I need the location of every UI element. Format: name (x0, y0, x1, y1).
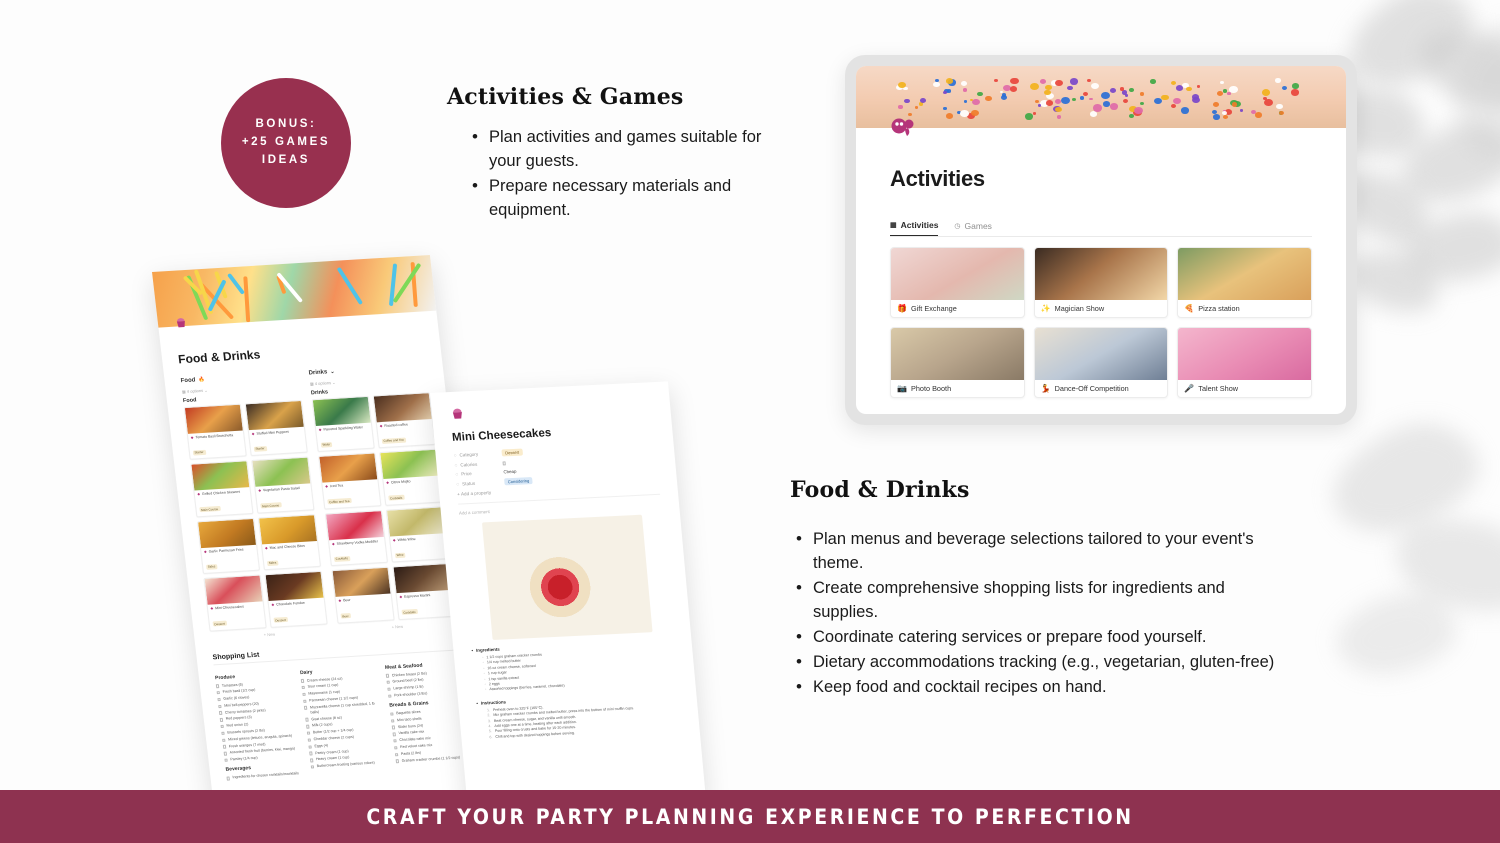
confetti-dot (1030, 83, 1039, 90)
activity-card[interactable]: 📷Photo Booth (890, 327, 1025, 398)
confetti-dot (1061, 97, 1070, 104)
add-comment-row[interactable]: Add a comment (458, 494, 661, 516)
bullet-item: Plan menus and beverage selections tailo… (790, 528, 1290, 576)
confetti-dot (1101, 92, 1110, 99)
recipe-title: Mini Cheesecakes (452, 422, 655, 444)
beer-icon: ◆ (338, 599, 341, 604)
confetti-dot (1140, 92, 1144, 95)
bullet-marker: • (476, 701, 478, 706)
checkbox-icon[interactable] (302, 693, 306, 697)
activity-card-label: Talent Show (1198, 384, 1238, 393)
confetti-dot (1083, 92, 1088, 96)
checkbox-icon[interactable] (224, 759, 228, 763)
confetti-dot (1129, 88, 1134, 92)
chevron-down-icon: ⌄ (330, 369, 335, 375)
food-card[interactable]: ◆Garlic Parmesan FriesSides (197, 518, 260, 575)
food-card[interactable]: ◆Mac and Cheese BitesSides (258, 514, 321, 571)
bullet-item: Dietary accommodations tracking (e.g., v… (790, 651, 1290, 675)
food-card-label: Tomato Basil Bruschetta (195, 433, 233, 440)
food-card-tag: Cocktails (401, 609, 418, 615)
confetti-dot (1002, 93, 1007, 97)
tab-label: Games (965, 221, 992, 231)
shopping-item-label: Red onion (2) (226, 723, 248, 730)
confetti-dot (1055, 80, 1063, 87)
checkbox-icon[interactable] (301, 679, 305, 683)
shopping-item-label: Vanilla cake mix (398, 730, 424, 737)
property-name: Price (461, 471, 472, 476)
shopping-item-label: Pork shoulder (3 lbs) (394, 691, 428, 698)
choco-icon: ◆ (271, 603, 274, 608)
leaf-shadow-icon (1343, 240, 1447, 323)
shopping-item-label: Baguette slices (396, 710, 421, 717)
tab-games[interactable]: ◷Games (954, 220, 992, 236)
leaf-icon: ◆ (258, 489, 261, 494)
food-card-tag: Starter (192, 450, 206, 456)
confetti-dot (972, 99, 979, 105)
confetti-dot (1093, 104, 1102, 111)
confetti-dot (904, 99, 910, 104)
confetti-dot (1038, 104, 1042, 107)
food-drinks-page-mockup: Food & Drinks Food🔥▦ 4 options ⌄Food◆Tom… (152, 255, 492, 808)
confetti-dot (1070, 78, 1078, 84)
ingredients-title: Ingredients (476, 647, 500, 653)
food-card-label: White Wine (397, 537, 415, 542)
recipe-page-body: Mini Cheesecakes ◌CategoryDessert◌Calori… (430, 381, 700, 741)
food-card-grid: ◆Tomato Basil BruschettaStarter◆Stuffed … (184, 400, 328, 631)
activity-card[interactable]: ✨Magician Show (1034, 247, 1169, 318)
confetti-dot (1080, 96, 1085, 100)
food-card-tag: Sides (266, 560, 278, 566)
property-value-pill: Considering (504, 477, 533, 485)
checkbox-icon[interactable] (395, 753, 399, 757)
confetti-dot (1279, 111, 1284, 115)
food-card[interactable]: ◆Tomato Basil BruschettaStarter (184, 404, 247, 461)
confetti-dot (963, 88, 967, 91)
leaf-shadow-icon (1409, 14, 1500, 124)
activity-card-label-row: 🍕Pizza station (1178, 300, 1311, 317)
food-card-tag: Beer (340, 613, 351, 619)
microphone-icon: 🎤 (1184, 385, 1194, 393)
checkbox-icon[interactable] (216, 684, 220, 688)
food-card-tag: Cocktails (388, 495, 405, 501)
checkbox-icon[interactable] (393, 739, 397, 743)
food-card-tag: Coffee and Tea (381, 437, 406, 444)
mint-icon: ◆ (386, 481, 389, 486)
tablet-screen[interactable]: Activities ▦Activities◷Games 🎁Gift Excha… (856, 66, 1346, 414)
checkbox-icon[interactable] (307, 732, 311, 736)
recipe-properties: ◌CategoryDessert◌Calories◌PriceCheap◌Sta… (453, 442, 659, 497)
grid-icon: ▦ (890, 221, 897, 229)
food-drinks-section-title: Food & Drinks (790, 477, 970, 503)
checkbox-icon[interactable] (308, 745, 312, 749)
food-card[interactable]: ◆Roasted coffeeCoffee and Tea (373, 392, 436, 449)
confetti-dot (960, 110, 969, 117)
pasta-salad-photo (252, 458, 310, 487)
food-card[interactable]: ◆Mini CheesecakesDessert (204, 575, 267, 632)
property-value-pill: Dessert (501, 449, 522, 457)
confetti-dot (1197, 85, 1200, 87)
activity-card-label: Gift Exchange (911, 304, 957, 313)
checkbox-icon[interactable] (219, 711, 223, 715)
confetti-dot (1220, 81, 1224, 84)
confetti-dot (1040, 79, 1047, 84)
confetti-dot (1262, 89, 1270, 95)
confetti-dot (1217, 91, 1223, 96)
food-drinks-page-title: Food & Drinks (177, 337, 425, 366)
shopping-list-item[interactable]: Ingredients for chosen cocktails/mocktai… (226, 771, 303, 781)
fire-icon: 🔥 (198, 377, 205, 383)
confetti-dot (1123, 99, 1128, 103)
cupcake-icon (173, 315, 189, 333)
tab-activities[interactable]: ▦Activities (890, 220, 938, 236)
checkbox-icon[interactable] (306, 725, 310, 729)
ordinal-marker: 6. (489, 735, 492, 741)
skewers-photo (191, 462, 249, 491)
checkbox-icon[interactable] (217, 691, 221, 695)
food-card-label: Flavored Sparkling Water (323, 425, 363, 432)
food-card-label: Citrus Mojito (391, 480, 411, 486)
shopping-list-block: Shopping List ProduceTomatoes (6)Fresh b… (196, 638, 489, 784)
activities-card-grid: 🎁Gift Exchange✨Magician Show🍕Pizza stati… (890, 247, 1312, 398)
food-card[interactable]: ◆Stuffed Mini PeppersStarter (245, 400, 308, 457)
tablet-page-title: Activities (890, 166, 1312, 192)
shopping-item-label: Pasta (2 lbs) (401, 751, 422, 757)
confetti-dot (1110, 103, 1118, 109)
confetti-dot (1046, 100, 1054, 106)
food-card-tag: Wine (394, 552, 405, 558)
confetti-dot (1229, 86, 1237, 93)
fork-icon: ◆ (204, 550, 207, 555)
checkbox-icon[interactable] (223, 745, 227, 749)
confetti-dot (1171, 104, 1177, 108)
activities-bullet-list: Plan activities and games suitable for y… (466, 126, 766, 224)
checkbox-icon[interactable] (396, 760, 400, 764)
mojito-photo (380, 450, 438, 479)
confetti-dot (1025, 113, 1033, 120)
slide-canvas: BONUS: +25 GAMES IDEAS Activities & Game… (0, 0, 1500, 843)
iced-tea-photo (319, 454, 377, 483)
confetti-dot (1223, 115, 1228, 119)
shopping-list-column: DairyCream cheese (24 oz)Sour cream (1 c… (299, 661, 388, 778)
confetti-dot (1171, 81, 1176, 85)
property-name-cell: ◌Category (454, 451, 498, 458)
activity-card-label: Pizza station (1198, 304, 1239, 313)
strawberry-drink-photo (326, 511, 384, 540)
confetti-dot (961, 81, 967, 86)
beer-photo (333, 568, 391, 597)
checkbox-icon[interactable] (390, 712, 394, 716)
coffee-photo (374, 393, 432, 422)
property-name: Category (459, 452, 478, 458)
dancer-icon: 💃 (1041, 385, 1051, 393)
calories-checkbox[interactable] (503, 462, 507, 466)
food-card-label: Iced Tea (330, 484, 344, 489)
gift-icon: 🎁 (897, 305, 907, 313)
property-value: Cheap (503, 469, 516, 475)
checkbox-icon[interactable] (394, 746, 398, 750)
activity-card-label-row: 📷Photo Booth (891, 380, 1024, 397)
food-card-label: Mini Cheesecakes (215, 605, 244, 611)
activity-card[interactable]: 🍕Pizza station (1177, 247, 1312, 318)
banner-text: CRAFT YOUR PARTY PLANNING EXPERIENCE TO … (366, 805, 1133, 829)
checkbox-icon[interactable] (224, 752, 228, 756)
coffee-icon: ◆ (379, 424, 382, 429)
confetti-dot (1129, 114, 1134, 118)
food-card-tag: Starter (253, 446, 267, 452)
recipe-image (482, 515, 652, 640)
food-card-tag: Dessert (273, 617, 288, 623)
food-drinks-cover-image (152, 255, 436, 328)
checkbox-icon[interactable] (305, 718, 309, 722)
checkbox-icon[interactable] (217, 698, 221, 702)
cake-icon: ◆ (210, 607, 213, 612)
checkbox-icon[interactable] (386, 674, 390, 678)
leaf-shadow-icon (1446, 13, 1500, 167)
confetti-dot (1057, 115, 1061, 118)
food-card[interactable]: ◆Grilled Chicken SkewersMain Course (190, 461, 253, 518)
checkbox-icon[interactable] (391, 719, 395, 723)
property-name-cell: ◌Calories (454, 461, 498, 468)
bottom-banner: CRAFT YOUR PARTY PLANNING EXPERIENCE TO … (0, 790, 1500, 843)
shopping-list-columns: ProduceTomatoes (6)Fresh basil (1/2 cup)… (214, 656, 473, 783)
shopping-item-label: Large shrimp (1 lb) (393, 685, 424, 692)
confetti-dot (964, 100, 968, 103)
instructions-title: Instructions (481, 699, 507, 705)
confetti-dot (1154, 98, 1162, 105)
confetti-dot (1176, 85, 1183, 91)
checkbox-icon[interactable] (227, 777, 231, 781)
food-card[interactable]: ◆Flavored Sparkling WaterWater (312, 396, 375, 453)
fork-icon: ◆ (197, 493, 200, 498)
bullet-marker: • (471, 648, 473, 653)
ingredients-list: ◦1 1/2 cups graham cracker crumbs◦1/4 cu… (472, 646, 677, 693)
mini-peppers-photo (246, 401, 304, 430)
instructions-list: 1.Preheat oven to 325°F (165°C).2.Mix gr… (477, 699, 682, 741)
food-card[interactable]: ◆Vegetarian Pasta SaladMain Course (251, 457, 314, 514)
drinking-straw-icon (227, 273, 245, 295)
food-drinks-page-body: Food & Drinks Food🔥▦ 4 options ⌄Food◆Tom… (161, 336, 473, 645)
checkbox-icon[interactable] (387, 687, 391, 691)
confetti-dot (1103, 101, 1110, 106)
confetti-dot (1181, 107, 1189, 113)
leaf-shadow-icon (1392, 110, 1500, 215)
bullet-item: Prepare necessary materials and equipmen… (466, 175, 766, 223)
confetti-dot (1110, 88, 1117, 93)
checkbox-icon[interactable] (309, 752, 313, 756)
column-title: Drinks (308, 369, 327, 376)
confetti-dot (946, 113, 953, 119)
food-card-tag: Sides (205, 564, 217, 570)
checkbox-icon[interactable] (218, 705, 222, 709)
food-card[interactable]: ◆BeerBeer (331, 567, 394, 624)
confetti-dot (1276, 104, 1283, 110)
cheese-icon: ◆ (265, 546, 268, 551)
column-title: Food (180, 377, 195, 384)
confetti-dot (994, 79, 998, 82)
checkbox-icon[interactable] (311, 765, 315, 769)
activities-cover-image (856, 66, 1346, 128)
confetti-dot (1091, 83, 1099, 89)
food-card[interactable]: ◆Citrus MojitoCocktails (379, 449, 442, 506)
tag-icon: ◌ (454, 453, 457, 458)
bullet-item: Keep food and cocktail recipes on hand. (790, 676, 1290, 700)
checkbox-icon[interactable] (222, 738, 226, 742)
drinking-straw-icon (243, 277, 250, 323)
activity-card-label: Photo Booth (911, 384, 951, 393)
confetti-dot (943, 107, 946, 110)
food-card-label: Grilled Chicken Skewers (202, 490, 241, 497)
camera-icon: 📷 (897, 385, 907, 393)
confetti-dot (1033, 112, 1036, 115)
martini-icon: ◆ (399, 595, 402, 600)
property-name-cell: ◌Price (455, 470, 499, 477)
bonus-badge: BONUS: +25 GAMES IDEAS (221, 78, 351, 208)
bullet-item: Create comprehensive shopping lists for … (790, 577, 1290, 625)
leaf-shadow-icon (1329, 584, 1462, 683)
food-card-label: Stuffed Mini Peppers (256, 430, 289, 436)
confetti-dot (946, 78, 953, 84)
food-card[interactable]: ◆Strawberry Vodka MuddlerCocktails (325, 510, 388, 567)
food-column-food: Food🔥▦ 4 options ⌄Food◆Tomato Basil Brus… (180, 371, 329, 644)
checkbox-icon[interactable] (388, 694, 392, 698)
activity-card-label: Magician Show (1055, 304, 1104, 313)
activity-card[interactable]: 🎤Talent Show (1177, 327, 1312, 398)
activity-card-label-row: 🎁Gift Exchange (891, 300, 1024, 317)
confetti-dot (1291, 89, 1299, 95)
clock-icon: ◷ (954, 222, 960, 230)
checkbox-icon[interactable] (302, 686, 306, 690)
shopping-item-label: Ingredients for chosen cocktails/mocktai… (232, 772, 299, 781)
activity-card-label: Dance-Off Competition (1055, 384, 1129, 393)
tea-icon: ◆ (325, 485, 328, 490)
bullet-item: Coordinate catering services or prepare … (790, 626, 1290, 650)
food-card-tag: Water (320, 442, 332, 448)
confetti-dot (985, 96, 992, 101)
dollar-icon: ◌ (455, 472, 458, 477)
leaf-icon: ◆ (252, 432, 255, 437)
activity-card-label-row: ✨Magician Show (1035, 300, 1168, 317)
gift-boxes-photo (891, 248, 1024, 300)
fork-icon: ◆ (191, 436, 194, 441)
food-card-label: Beer (343, 598, 351, 603)
food-card-label: Roasted coffee (384, 422, 408, 428)
checkbox-icon[interactable] (221, 725, 225, 729)
candlelight-photo (1035, 248, 1168, 300)
mac-bites-photo (259, 515, 317, 544)
activities-section-title: Activities & Games (447, 84, 684, 110)
food-card-tag: Main Course (199, 506, 221, 512)
food-drinks-columns: Food🔥▦ 4 options ⌄Food◆Tomato Basil Brus… (180, 363, 457, 644)
confetti-dot (1087, 79, 1092, 83)
leaf-shadow-icon (1317, 405, 1492, 550)
checkbox-icon[interactable] (393, 733, 397, 737)
circle-icon: ◌ (456, 482, 459, 487)
confetti-dot (1044, 90, 1051, 95)
checkbox-icon[interactable] (221, 732, 225, 736)
confetti-dot (1282, 86, 1287, 90)
checkbox-icon[interactable] (310, 759, 314, 763)
confetti-dot (1055, 99, 1061, 104)
activity-card[interactable]: 💃Dance-Off Competition (1034, 327, 1169, 398)
confetti-dot (1010, 86, 1017, 92)
food-card[interactable]: ◆White WineWine (386, 506, 449, 563)
confetti-dot (971, 110, 979, 117)
checkbox-icon[interactable] (220, 718, 224, 722)
checkbox-icon[interactable] (308, 738, 312, 742)
confetti-dot (1150, 79, 1156, 84)
fondue-photo (266, 572, 324, 601)
shopping-item-label: Parsley (1/4 cup) (230, 756, 258, 763)
shopping-item-label: Mini taco shells (397, 717, 422, 724)
fries-photo (198, 519, 256, 548)
property-name: Status (462, 481, 475, 487)
food-card-label: Garlic Parmesan Fries (208, 547, 243, 553)
food-card-label: Mac and Cheese Bites (269, 544, 305, 550)
drinking-straw-icon (336, 267, 363, 306)
confetti-dot (920, 98, 926, 103)
wand-icon: ✨ (1041, 305, 1051, 313)
cheesecake-photo (205, 576, 263, 605)
food-card-label: Strawberry Vodka Muddler (336, 539, 378, 546)
confetti-dot (1186, 87, 1191, 91)
property-name: Calories (460, 462, 477, 468)
confetti-dot (1134, 107, 1143, 114)
food-card-label: Vegetarian Pasta Salad (263, 486, 300, 493)
confetti-dot (1125, 94, 1129, 97)
wine-icon: ◆ (393, 538, 396, 543)
food-card-label: Espresso Martini (404, 593, 431, 599)
confetti-dot (1010, 78, 1019, 85)
food-card-tag: Coffee and Tea (327, 498, 352, 505)
confetti-dot (915, 106, 918, 109)
checkbox-icon[interactable] (387, 681, 391, 685)
confetti-dot (943, 91, 948, 95)
espresso-martini-photo (394, 564, 452, 593)
confetti-dot (1255, 112, 1262, 118)
pizza-icon: 🍕 (1184, 305, 1194, 313)
food-card-tag: Cocktails (333, 556, 350, 562)
shopping-item-label: Tomatoes (6) (222, 682, 244, 688)
glass-icon: ◆ (319, 428, 322, 433)
confetti-dot (1035, 100, 1039, 103)
tablet-tab-bar[interactable]: ▦Activities◷Games (890, 220, 1312, 237)
checkbox-icon[interactable] (304, 706, 308, 710)
food-card[interactable]: ◆Iced TeaCoffee and Tea (318, 453, 381, 510)
tablet-device-mockup: Activities ▦Activities◷Games 🎁Gift Excha… (845, 55, 1357, 425)
shopping-item-label: Milk (2 cups) (312, 723, 333, 729)
checkbox-icon[interactable] (303, 699, 307, 703)
tablet-page-body: Activities ▦Activities◷Games 🎁Gift Excha… (856, 166, 1346, 398)
bullet-marker: ◦ (485, 688, 487, 693)
confetti-dot (1090, 111, 1097, 117)
shopping-item-label: Eggs (4) (314, 743, 328, 749)
singer-confetti-photo (1178, 328, 1311, 380)
activity-card[interactable]: 🎁Gift Exchange (890, 247, 1025, 318)
confetti-dot (1240, 109, 1243, 112)
leaf-shadow-icon (1386, 502, 1500, 625)
activity-card-label-row: 💃Dance-Off Competition (1035, 380, 1168, 397)
food-card[interactable]: ◆Chocolate FondueDessert (264, 571, 327, 628)
confetti-dot (1055, 107, 1062, 112)
sparkling-water-photo (313, 397, 371, 426)
property-name-cell: ◌Status (456, 480, 500, 487)
checkbox-icon[interactable] (392, 726, 396, 730)
confetti-dot (1275, 78, 1281, 82)
confetti-dot (898, 105, 902, 108)
confetti-dot (1192, 97, 1200, 103)
bruschetta-photo (185, 405, 243, 434)
recipe-page-mockup: Mini Cheesecakes ◌CategoryDessert◌Calori… (430, 381, 706, 811)
